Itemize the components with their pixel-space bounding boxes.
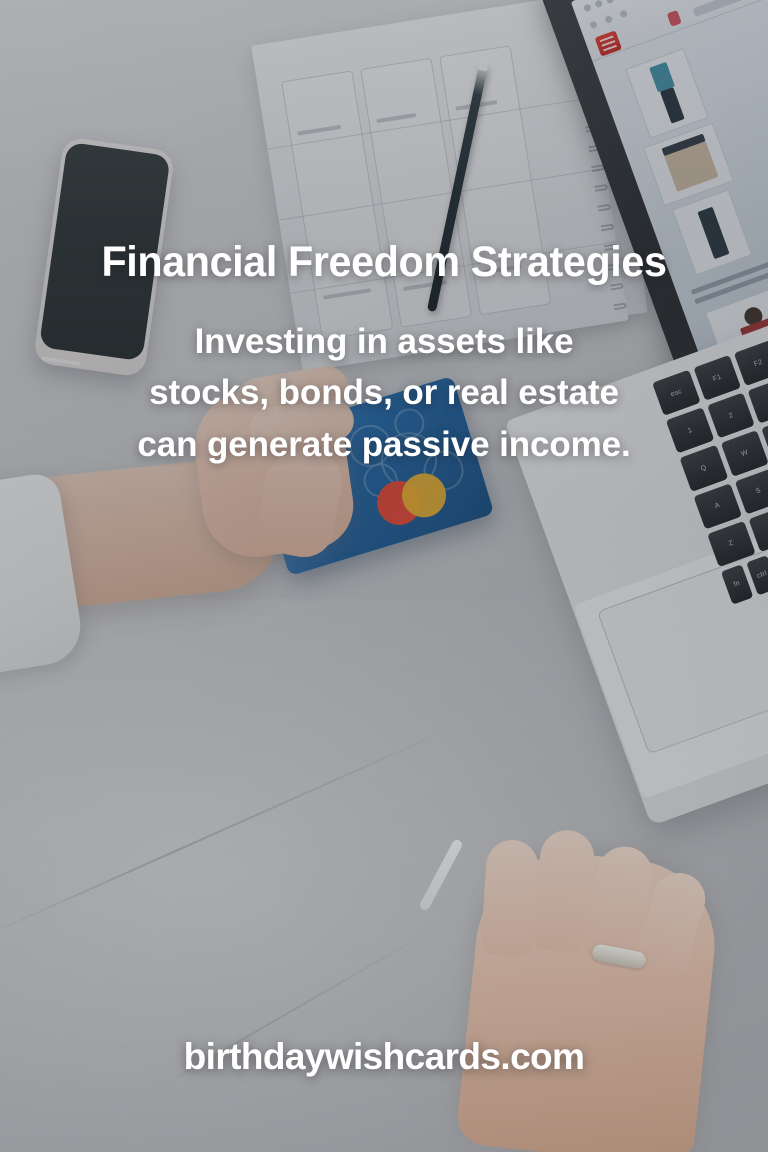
text-overlay: Financial Freedom Strategies Investing i… [0,0,768,1152]
subhead-line-3: can generate passive income. [40,419,728,470]
subhead-line-2: stocks, bonds, or real estate [40,367,728,418]
subhead-line-1: Investing in assets like [40,316,728,367]
website-watermark[interactable]: birthdaywishcards.com [0,1036,768,1078]
pin-subheadline: Investing in assets like stocks, bonds, … [0,316,768,470]
pinterest-pin-card: esc F1 F2 F3 F4 F5 F6 1 2 3 4 5 6 [0,0,768,1152]
pin-headline: Financial Freedom Strategies [15,240,752,285]
